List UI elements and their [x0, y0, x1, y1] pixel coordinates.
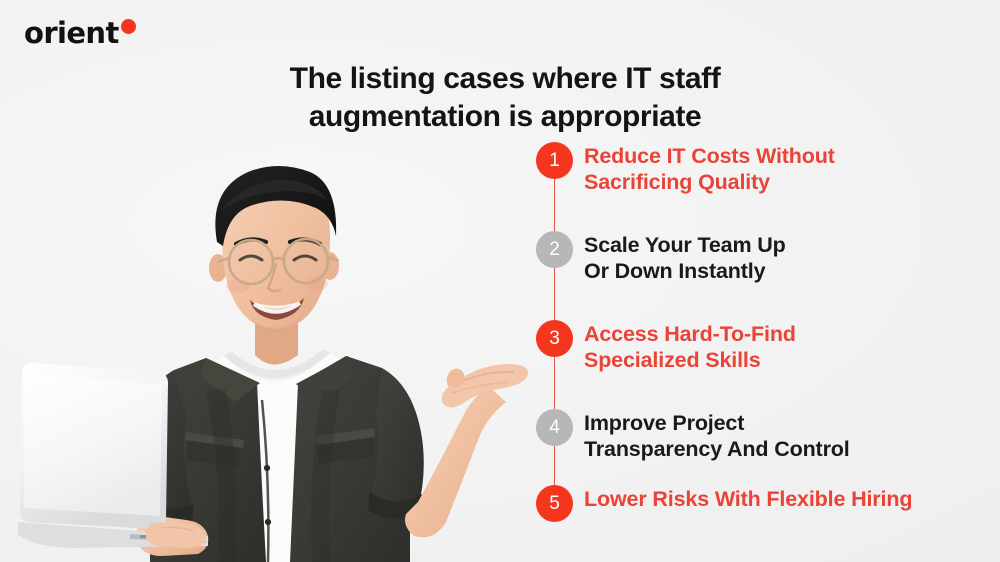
benefits-timeline: 1Reduce IT Costs Without Sacrificing Qua… — [536, 142, 956, 522]
timeline-bullet-column: 2 — [536, 231, 584, 268]
timeline-connector-line — [554, 446, 555, 485]
timeline-bullet-column: 1 — [536, 142, 584, 179]
timeline-connector-line — [554, 179, 555, 231]
timeline-item-label: Improve Project Transparency And Control — [584, 409, 850, 462]
timeline-number-badge: 3 — [536, 320, 573, 357]
timeline-item-label: Access Hard-To-Find Specialized Skills — [584, 320, 796, 373]
brand-name: orient — [24, 18, 119, 48]
timeline-bullet-column: 4 — [536, 409, 584, 446]
timeline-number-badge: 5 — [536, 485, 573, 522]
timeline-bullet-column: 5 — [536, 485, 584, 522]
timeline-item[interactable]: 5Lower Risks With Flexible Hiring — [536, 485, 956, 522]
timeline-item-label: Lower Risks With Flexible Hiring — [584, 485, 912, 512]
timeline-number-badge: 1 — [536, 142, 573, 179]
presenting-arm — [405, 364, 528, 537]
presenter-photo — [10, 150, 530, 562]
timeline-item-label: Scale Your Team Up Or Down Instantly — [584, 231, 786, 284]
timeline-connector-line — [554, 268, 555, 320]
infographic-canvas: orient The listing cases where IT staff … — [0, 0, 1000, 562]
page-title: The listing cases where IT staff augment… — [250, 60, 760, 136]
timeline-connector-line — [554, 357, 555, 409]
timeline-item[interactable]: 2Scale Your Team Up Or Down Instantly — [536, 231, 956, 284]
head — [209, 166, 339, 332]
timeline-item[interactable]: 4Improve Project Transparency And Contro… — [536, 409, 956, 462]
timeline-item[interactable]: 1Reduce IT Costs Without Sacrificing Qua… — [536, 142, 956, 195]
timeline-item-label: Reduce IT Costs Without Sacrificing Qual… — [584, 142, 835, 195]
brand-logo[interactable]: orient — [24, 18, 136, 52]
timeline-number-badge: 2 — [536, 231, 573, 268]
timeline-number-badge: 4 — [536, 409, 573, 446]
red-dot-icon — [121, 19, 136, 34]
timeline-bullet-column: 3 — [536, 320, 584, 357]
timeline-item[interactable]: 3Access Hard-To-Find Specialized Skills — [536, 320, 956, 373]
